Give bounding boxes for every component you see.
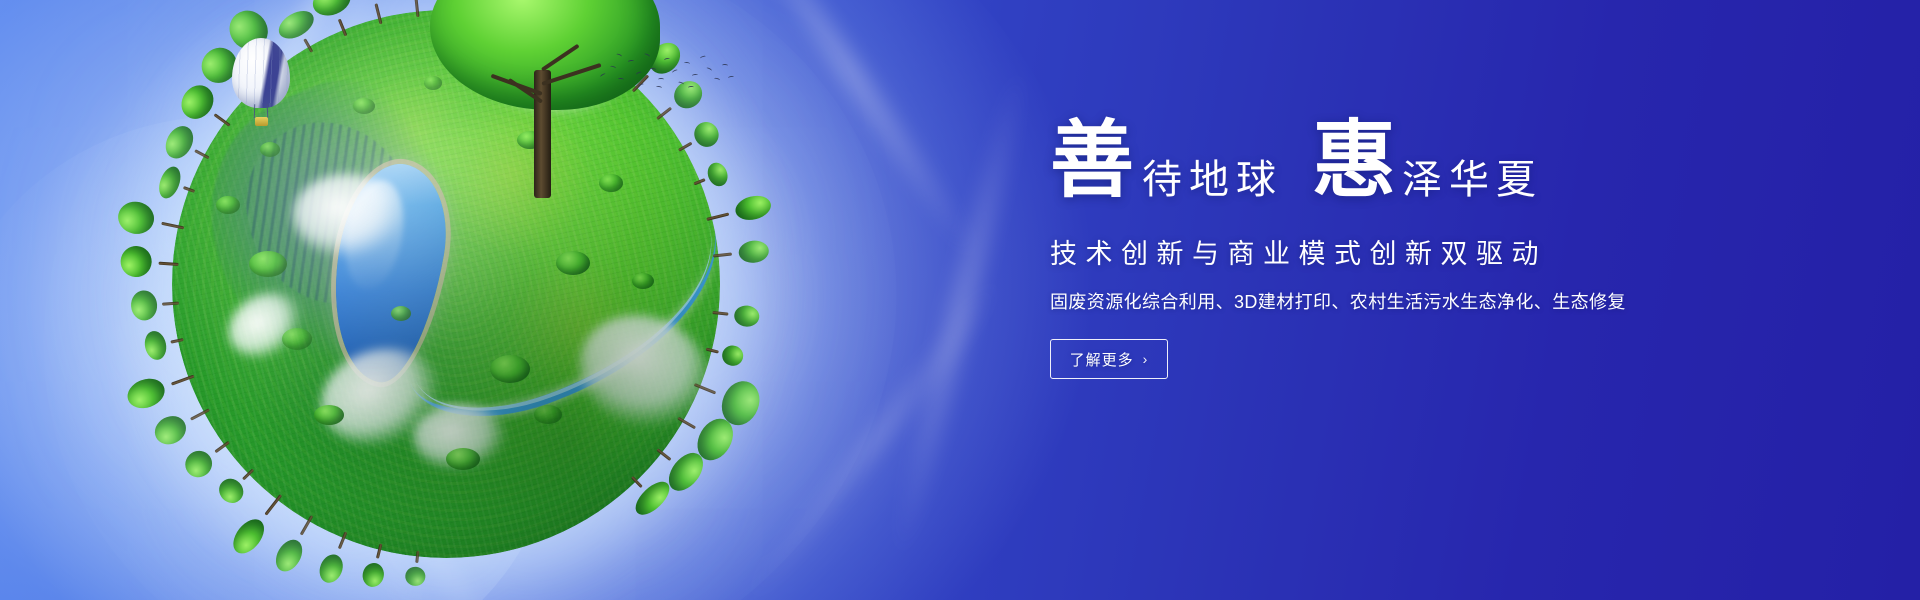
tree-crown [360,561,386,589]
tree-crown [124,374,169,413]
tree-trunk [190,408,210,420]
tree-trunk [706,212,729,220]
tree-crown [155,164,185,202]
tree-trunk [677,417,696,430]
hero-banner: 善 待地球 惠 泽华夏 技术创新与商业模式创新双驱动 固废资源化综合利用、3D建… [0,0,1920,600]
tree-trunk [161,222,184,230]
headline-text-zehuaxia: 泽华夏 [1402,160,1543,200]
tree-trunk [337,532,347,550]
chevron-right-icon: › [1143,352,1149,366]
tree-trunk [182,187,195,194]
tree-trunk [712,311,728,316]
headline-char-hui: 惠 [1312,118,1396,202]
bird-icon [644,53,651,58]
tree-trunk [170,338,184,344]
hot-air-balloon [232,38,290,130]
tree-trunk [376,544,383,559]
rim-tree [135,247,180,281]
page-title: 善 待地球 惠 泽华夏 [1050,118,1690,216]
rim-tree [405,549,428,577]
tree-crown [227,514,270,559]
bird-icon [616,53,623,58]
tree-trunk [414,0,420,18]
bird-icon [688,86,694,89]
rim-tree [672,123,713,161]
tree-trunk [631,476,643,488]
bird-icon [610,65,617,70]
bird-icon [678,81,685,86]
headline-char-shan: 善 [1050,118,1134,202]
tree-trunk [303,38,313,52]
tree-crown [115,199,157,238]
tree-trunk [265,494,283,515]
tree-crown [720,343,744,367]
rim-tree [711,302,748,327]
bird-icon [700,55,707,60]
bird-icon [656,86,662,90]
rim-tree [141,363,199,407]
bird-icon [618,78,624,81]
tree-crown [308,0,355,20]
tree-trunk [162,301,179,305]
tree-trunk [694,383,717,395]
tree-trunk [300,515,313,535]
tree-trunk [159,262,179,266]
bird-icon [722,64,728,67]
tree-trunk [213,114,230,128]
rim-tree [163,168,200,208]
rim-tree [279,510,322,562]
bird-icon [650,67,656,71]
bird-icon [692,74,698,78]
rim-tree [711,241,755,267]
tree-trunk [712,252,732,257]
tree-crown [347,0,394,1]
balloon-gores [232,38,290,108]
tree-crown [143,329,169,362]
tree-trunk [242,469,254,481]
bird-icon [672,69,679,74]
rim-tree [703,196,756,230]
rim-tree [690,163,723,195]
rim-tree [152,326,186,360]
tree-trunk [375,3,383,24]
tree-crown [150,411,191,450]
tree-crown [705,159,731,188]
tree-trunk [171,374,194,385]
tree-trunk [694,178,706,185]
bird-icon [636,71,643,76]
bird-icon [684,62,690,66]
learn-more-button[interactable]: 了解更多 › [1050,339,1168,379]
tree-crown [690,117,723,151]
rim-tree [132,202,188,244]
hero-description: 固废资源化综合利用、3D建材打印、农村生活污水生态净化、生态修复 [1050,288,1690,314]
bird-icon [658,78,664,81]
rim-tree [222,461,262,501]
rim-tree [704,339,736,365]
bird-icon [600,73,607,79]
rim-tree [238,488,290,545]
tree-trunk [415,550,419,562]
rim-tree [363,541,391,578]
bird-icon [706,67,713,72]
tree-crown [315,551,346,586]
bird-flock-icon [592,48,732,94]
rim-tree [163,398,215,443]
tree-crown [129,289,157,321]
tree-crown [733,304,760,328]
bird-icon [714,77,721,81]
bird-icon [664,57,671,61]
tree-trunk [214,440,230,453]
headline-text-daidiqiu: 待地球 [1142,160,1283,200]
tree-crown [404,566,426,587]
tree-crown [161,122,199,164]
rim-tree [320,528,355,573]
tree-trunk [195,150,210,160]
rim-tree [191,431,237,474]
balloon-basket [255,117,268,126]
tree-trunk [706,347,719,353]
bird-icon [638,83,645,88]
hero-subtitle: 技术创新与商业模式创新双驱动 [1050,232,1690,271]
tree-crown [120,246,153,279]
tree-crown [271,536,308,577]
learn-more-label: 了解更多 [1070,349,1134,370]
tree-crown [174,80,218,126]
rim-tree [142,288,180,320]
tree-trunk [656,448,671,461]
bird-icon [628,60,634,64]
tree-trunk [677,141,692,151]
tree-crown [180,445,217,482]
tree-trunk [337,18,347,36]
hero-copy-block: 善 待地球 惠 泽华夏 技术创新与商业模式创新双驱动 固废资源化综合利用、3D建… [1050,118,1690,379]
hero-tree [430,0,660,200]
tree-crown [737,239,769,264]
tree-crown [733,192,773,223]
